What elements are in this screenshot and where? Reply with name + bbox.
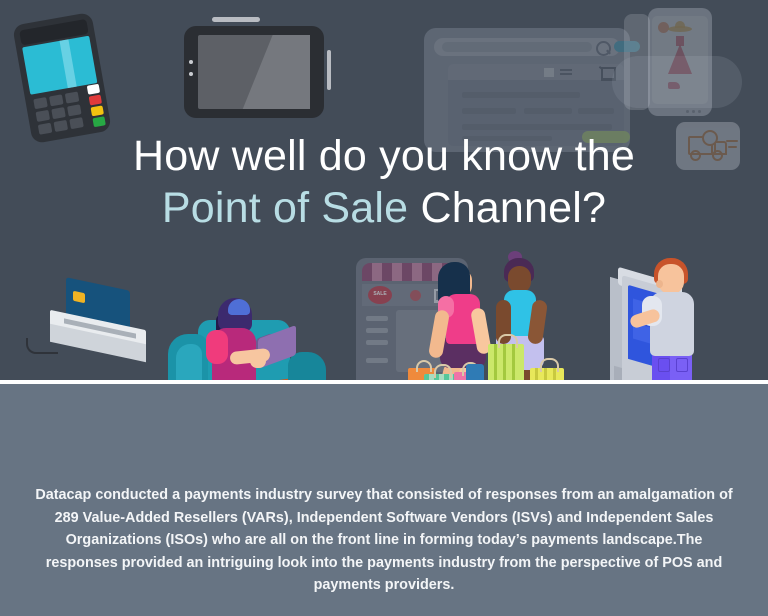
chip-card-reader (26, 272, 166, 382)
tablet-power-button (212, 17, 260, 22)
list-view-icon (560, 69, 572, 71)
shopping-bag-handle-4 (498, 334, 518, 348)
shopping-bag-handle-5 (540, 358, 559, 372)
shopper-back-head (508, 266, 531, 293)
grid-view-icon (544, 68, 554, 77)
list-view-icon-2 (560, 73, 572, 75)
browser-search-input (442, 42, 592, 52)
tablet-volume-button (327, 50, 331, 90)
body-paragraph: Datacap conducted a payments industry su… (34, 484, 734, 597)
tablet-sensor-icon (189, 72, 193, 76)
headline-line-2: Point of Sale Channel? (0, 182, 768, 234)
infographic-canvas: How well do you know the Point of Sale C… (0, 0, 768, 616)
sale-badge-label: SALE (368, 291, 392, 297)
tablet-camera-icon (189, 60, 193, 64)
woman-hand (250, 354, 266, 368)
woman-hair-highlight (228, 299, 250, 315)
page-title: How well do you know the Point of Sale C… (0, 130, 768, 234)
headline-line-1: How well do you know the (0, 130, 768, 182)
sun-hat-crown-icon (675, 21, 685, 28)
phone-pagination-dots (686, 110, 706, 113)
shoe-icon (668, 82, 680, 89)
tablet-device (184, 26, 324, 118)
background-phone-silhouette (624, 14, 650, 110)
man-pocket-right (676, 358, 688, 372)
mobile-shopping-phone (648, 8, 712, 116)
sale-badge: SALE (368, 286, 392, 304)
man-ear (656, 280, 663, 288)
browser-panel-header (448, 64, 624, 80)
phone-screen (652, 16, 708, 104)
headline-accent-text: Point of Sale (162, 184, 408, 232)
shopping-bag-handle (416, 360, 432, 372)
shopping-bag-handle-2 (434, 364, 452, 378)
search-icon (596, 41, 611, 56)
man-pocket-left (658, 358, 670, 372)
woman-sleeve (206, 330, 228, 364)
dress-icon (668, 44, 692, 74)
headline-line-2-rest: Channel? (408, 184, 606, 232)
man-head (658, 264, 684, 294)
tablet-screen-glare (198, 35, 310, 109)
